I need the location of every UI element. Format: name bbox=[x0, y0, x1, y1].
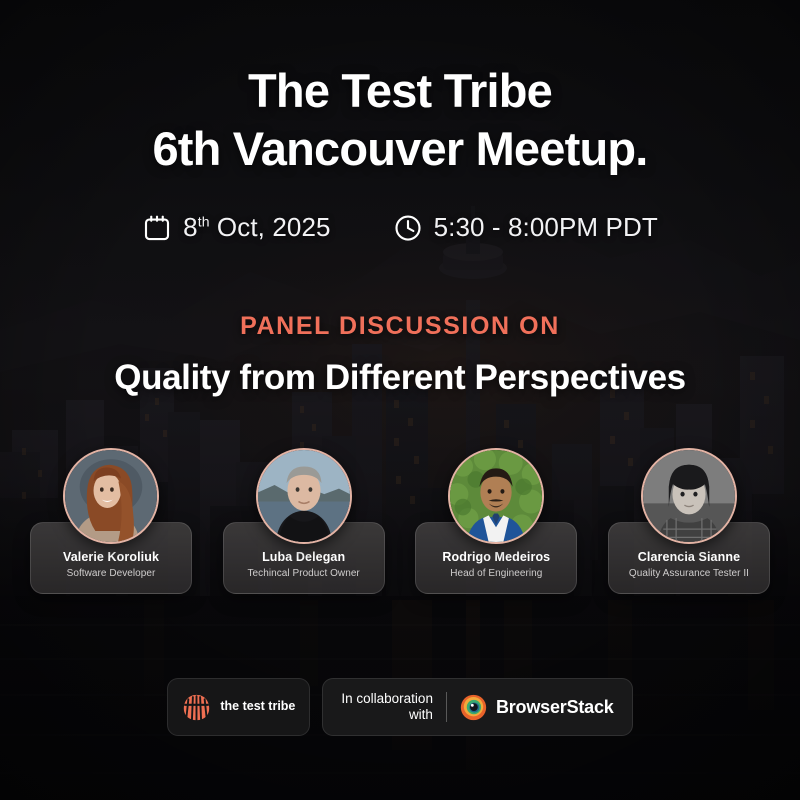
avatar bbox=[63, 448, 159, 544]
event-time-text: 5:30 - 8:00PM PDT bbox=[434, 212, 658, 243]
clock-icon bbox=[393, 213, 423, 243]
date-day: 8 bbox=[183, 212, 198, 242]
title-line-1: The Test Tribe bbox=[0, 62, 800, 120]
event-date: 8th Oct, 2025 bbox=[142, 212, 330, 243]
speaker-role: Software Developer bbox=[67, 568, 156, 580]
event-date-text: 8th Oct, 2025 bbox=[183, 212, 330, 243]
speaker-name: Clarencia Sianne bbox=[638, 550, 740, 565]
browserstack-logo-icon bbox=[460, 694, 487, 721]
browserstack-wordmark: BrowserStack bbox=[496, 697, 614, 718]
calendar-icon bbox=[142, 213, 172, 243]
speaker-card[interactable]: Valerie Koroliuk Software Developer bbox=[30, 448, 192, 608]
test-tribe-wordmark: the test tribe bbox=[220, 700, 295, 714]
poster-title: The Test Tribe 6th Vancouver Meetup. bbox=[0, 62, 800, 179]
collaboration-badge[interactable]: In collaboration with BrowserStack bbox=[322, 678, 632, 736]
footer-logos: the test tribe In collaboration with Bro… bbox=[0, 678, 800, 736]
avatar bbox=[448, 448, 544, 544]
speaker-role: Techincal Product Owner bbox=[248, 568, 360, 580]
date-rest: Oct, 2025 bbox=[210, 212, 331, 242]
speaker-name: Valerie Koroliuk bbox=[63, 550, 159, 565]
speaker-card[interactable]: Clarencia Sianne Quality Assurance Teste… bbox=[608, 448, 770, 608]
avatar bbox=[641, 448, 737, 544]
speaker-name: Luba Delegan bbox=[262, 550, 345, 565]
divider bbox=[446, 692, 447, 722]
collaboration-label: In collaboration with bbox=[341, 691, 433, 723]
event-poster: The Test Tribe 6th Vancouver Meetup. 8th… bbox=[0, 0, 800, 800]
date-day-suffix: th bbox=[198, 213, 210, 229]
speaker-name: Rodrigo Medeiros bbox=[442, 550, 550, 565]
avatar bbox=[256, 448, 352, 544]
speaker-list: Valerie Koroliuk Software Developer bbox=[30, 448, 770, 608]
speaker-role: Head of Engineering bbox=[450, 568, 542, 580]
speaker-role: Quality Assurance Tester II bbox=[629, 568, 749, 580]
event-time: 5:30 - 8:00PM PDT bbox=[393, 212, 658, 243]
speaker-card[interactable]: Rodrigo Medeiros Head of Engineering bbox=[415, 448, 577, 608]
speaker-card[interactable]: Luba Delegan Techincal Product Owner bbox=[223, 448, 385, 608]
test-tribe-logo-icon bbox=[182, 693, 211, 722]
title-line-2: 6th Vancouver Meetup. bbox=[0, 120, 800, 178]
panel-topic: Quality from Different Perspectives bbox=[0, 358, 800, 398]
event-meta-row: 8th Oct, 2025 5:30 - 8:00PM PDT bbox=[0, 212, 800, 243]
panel-kicker: PANEL DISCUSSION ON bbox=[0, 312, 800, 341]
test-tribe-brand[interactable]: the test tribe bbox=[167, 678, 310, 736]
